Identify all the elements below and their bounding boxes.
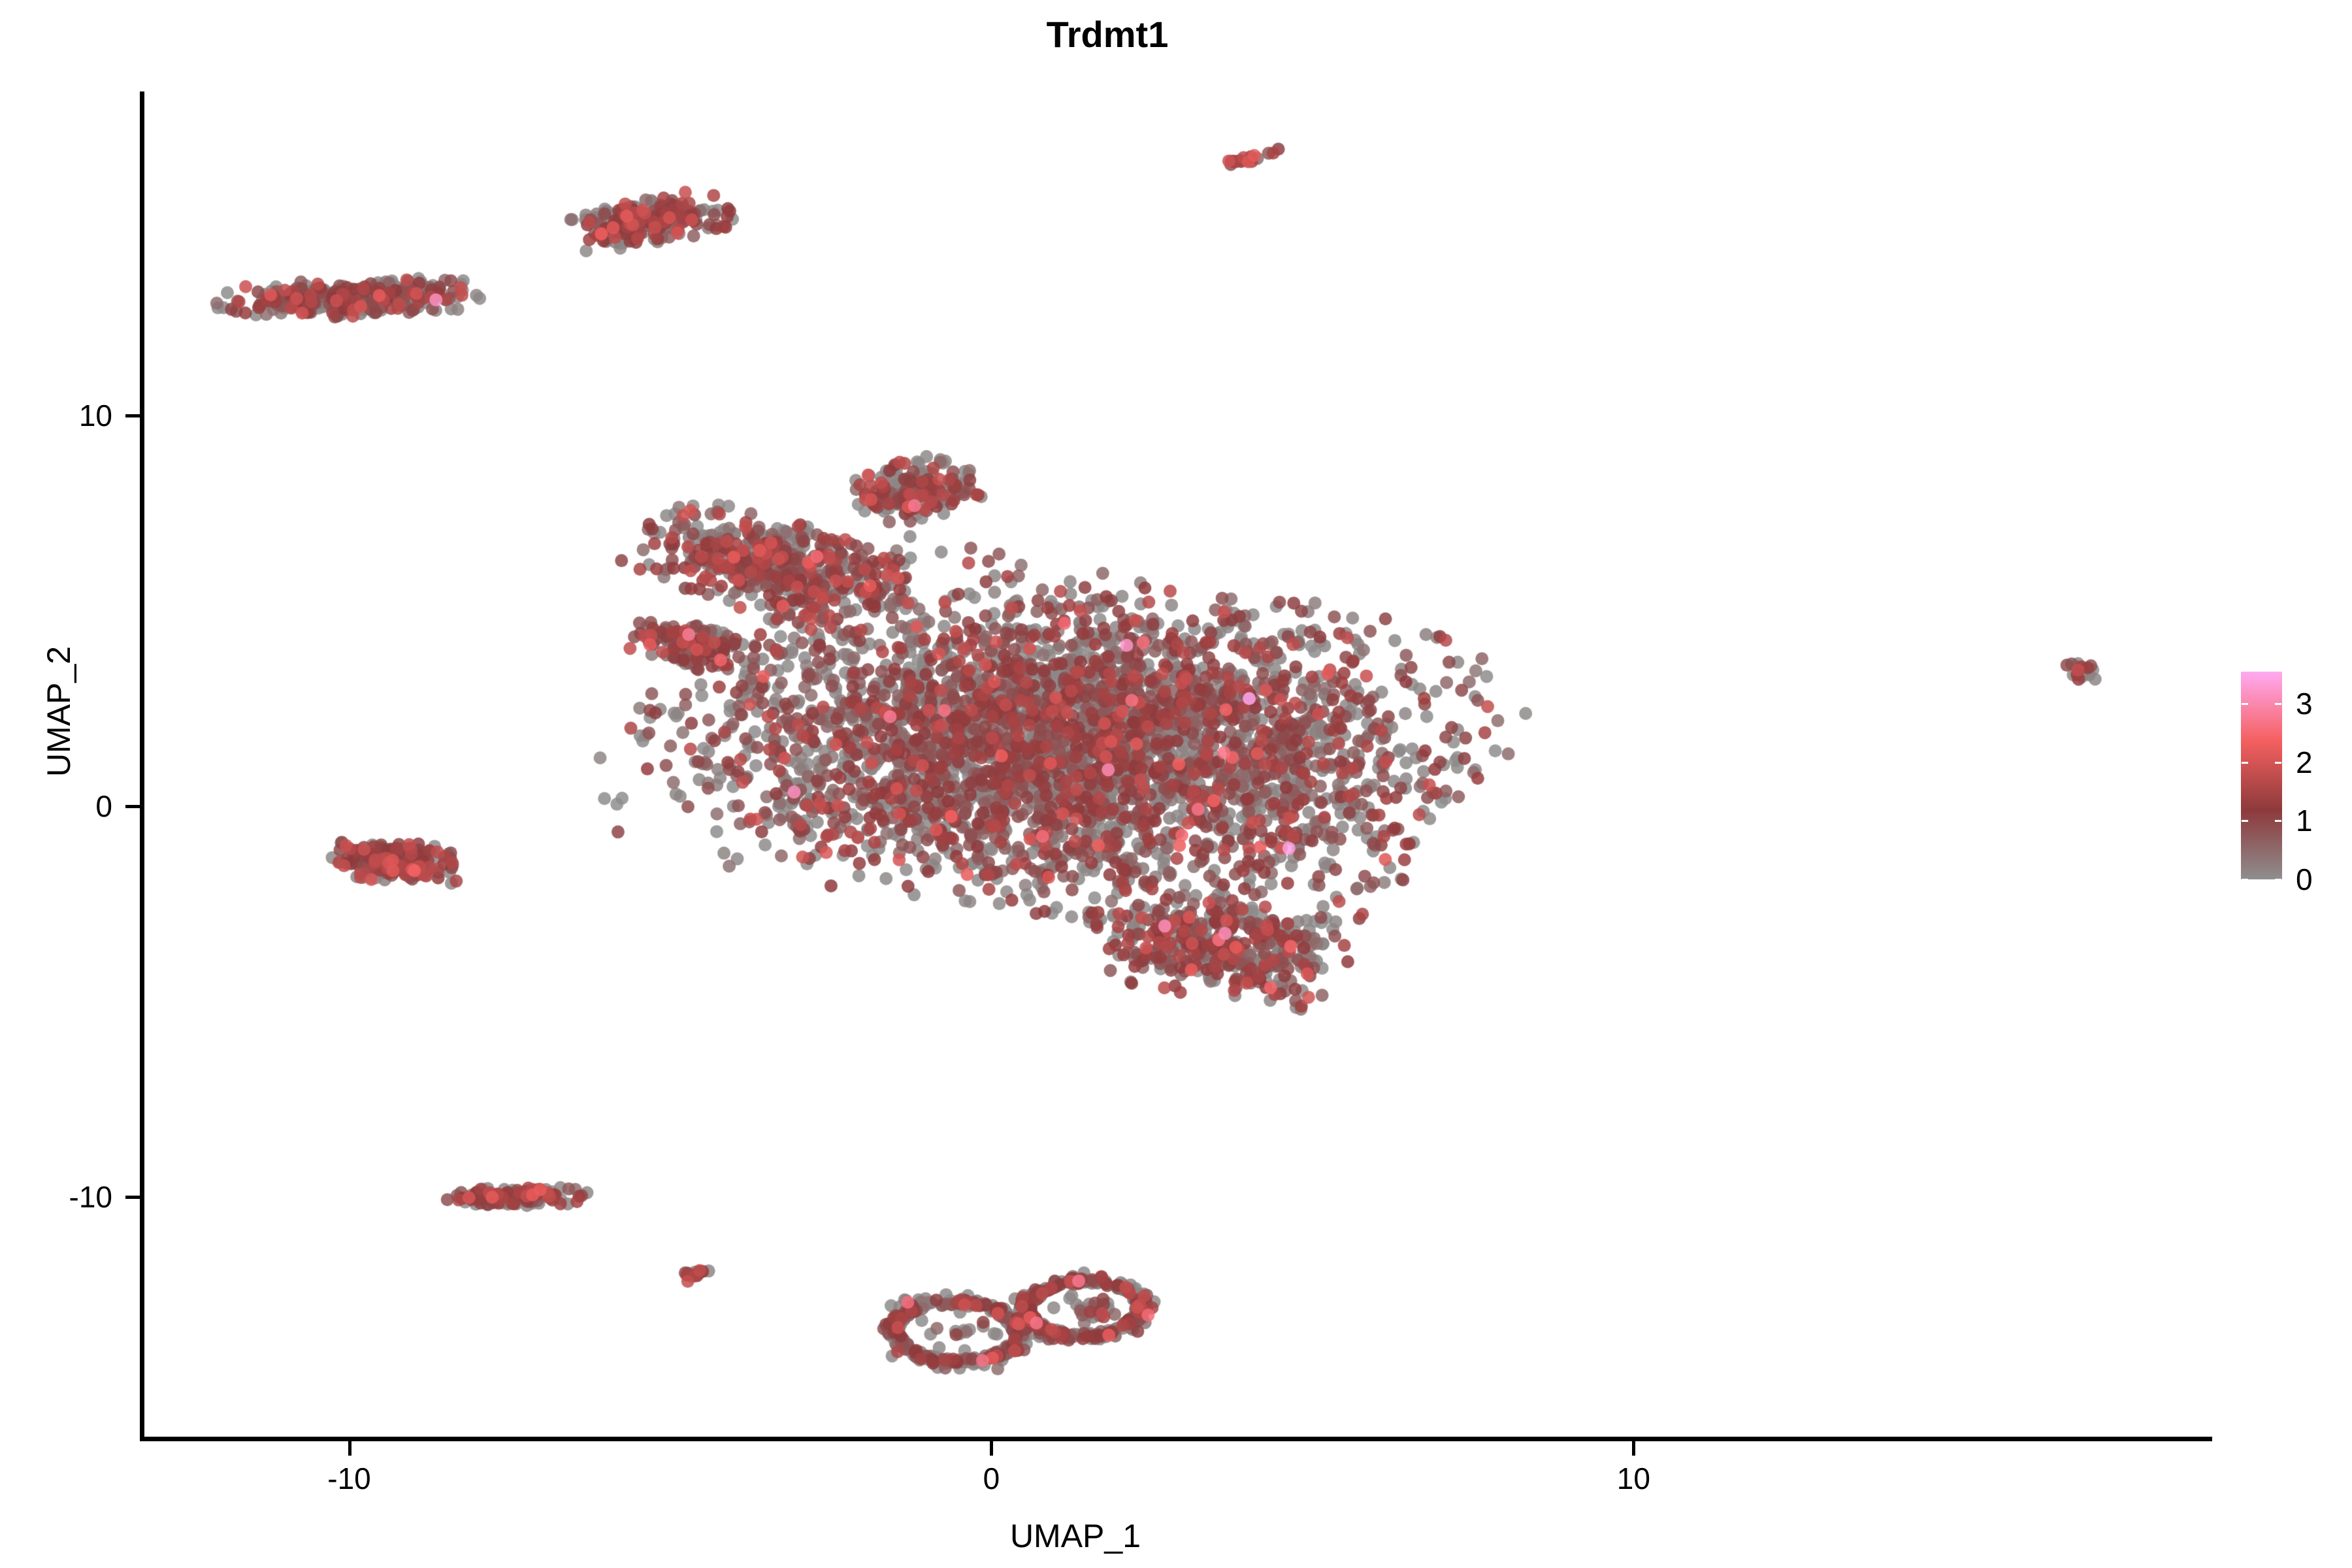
y-tick-mark (125, 414, 140, 417)
page-title: Trdmt1 (0, 13, 2215, 56)
y-tick-mark (125, 805, 140, 808)
legend-tick-label: 2 (2296, 745, 2313, 780)
x-axis-title: UMAP_1 (879, 1517, 1271, 1555)
legend-tick-label: 1 (2296, 803, 2313, 838)
x-axis-line (140, 1437, 2212, 1441)
legend-tick-mark (2242, 820, 2248, 822)
y-axis-line (140, 91, 144, 1441)
y-tick-label: 10 (0, 398, 112, 433)
umap-feature-plot: Trdmt1 -10010-10010 UMAP_2 UMAP_1 3210 (0, 0, 2352, 1568)
legend-tick-mark (2242, 879, 2248, 881)
legend-tick-mark (2275, 762, 2281, 764)
legend-tick-mark (2242, 762, 2248, 764)
plot-panel (144, 91, 2212, 1439)
x-tick-mark (990, 1441, 993, 1456)
scatter-plot-canvas (144, 91, 2212, 1439)
x-tick-mark (1632, 1441, 1635, 1456)
legend-tick-mark (2242, 703, 2248, 705)
y-tick-mark (125, 1196, 140, 1199)
legend-tick-label: 3 (2296, 686, 2313, 721)
legend-tick-mark (2275, 879, 2281, 881)
legend-tick-mark (2275, 703, 2281, 705)
x-tick-label: 10 (1535, 1461, 1731, 1496)
x-tick-label: 0 (893, 1461, 1089, 1496)
legend-tick-mark (2275, 820, 2281, 822)
x-tick-mark (348, 1441, 351, 1456)
legend-tick-label: 0 (2296, 862, 2313, 897)
y-axis-title: UMAP_2 (40, 581, 78, 842)
y-tick-label: -10 (0, 1179, 112, 1215)
x-tick-label: -10 (252, 1461, 448, 1496)
